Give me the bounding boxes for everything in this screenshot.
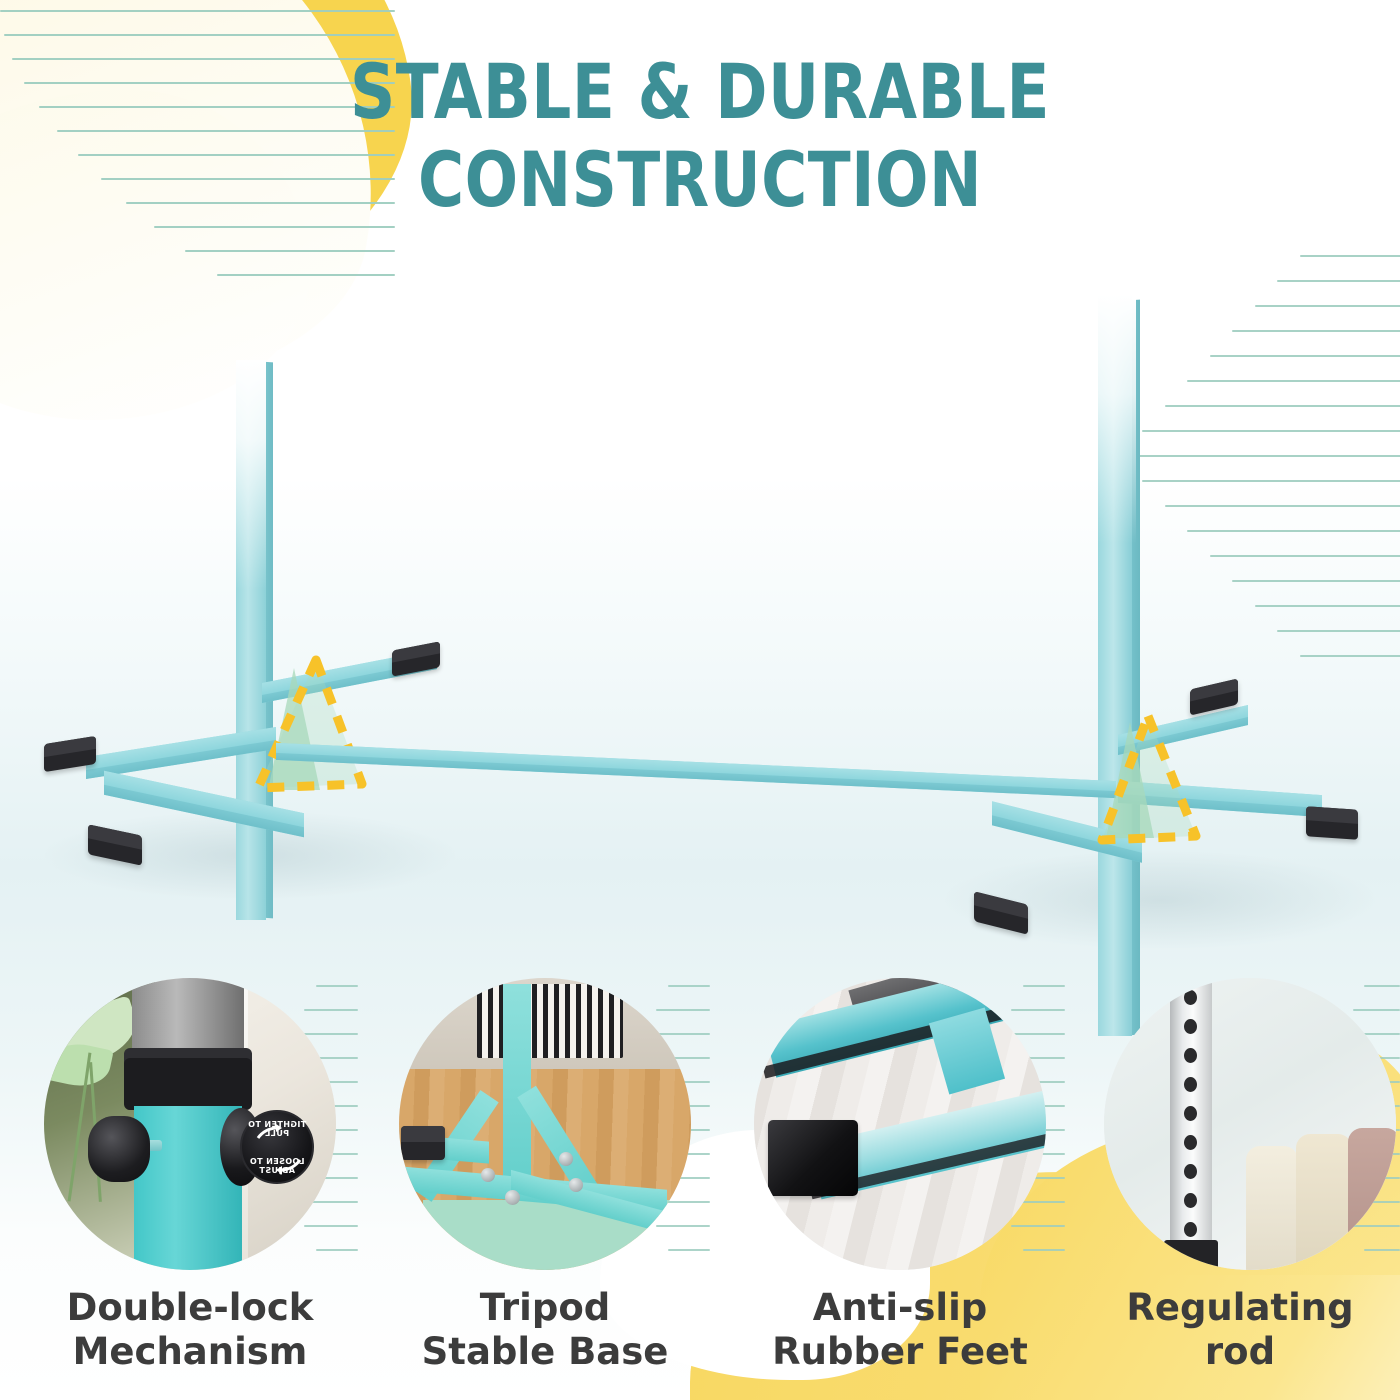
lock-collar xyxy=(124,1058,252,1110)
tripod-bolt xyxy=(505,1190,520,1205)
rod-adjustment-hole xyxy=(1184,1019,1197,1034)
caption-tripod-base: Tripod Stable Base xyxy=(380,1286,710,1373)
left-post-fade xyxy=(236,360,266,590)
caption-1-line-1: Double-lock xyxy=(25,1286,355,1330)
caption-rubber-feet: Anti-slip Rubber Feet xyxy=(735,1286,1065,1373)
cushion xyxy=(1246,1146,1298,1270)
caption-2-line-2: Stable Base xyxy=(380,1330,710,1374)
post-upper-silver xyxy=(132,978,244,1056)
right-highlight-triangle xyxy=(1090,708,1212,854)
tripod-bolt xyxy=(559,1152,573,1166)
rod-base-cap xyxy=(1164,1240,1218,1270)
inset-rubber-feet[interactable] xyxy=(754,978,1046,1270)
cushion xyxy=(1296,1134,1352,1270)
rod-adjustment-hole xyxy=(1184,1048,1197,1063)
headline-line-1: STABLE & DURABLE xyxy=(56,54,1344,130)
caption-3-line-2: Rubber Feet xyxy=(735,1330,1065,1374)
left-highlight-triangle xyxy=(248,652,378,802)
tripod-bolt xyxy=(569,1178,583,1192)
headline: STABLE & DURABLE CONSTRUCTION xyxy=(0,54,1400,218)
striped-ottoman xyxy=(477,984,623,1058)
caption-3-line-1: Anti-slip xyxy=(735,1286,1065,1330)
tripod-vertical-post xyxy=(503,984,531,1192)
infographic-canvas: STABLE & DURABLE CONSTRUCTION xyxy=(0,0,1400,1400)
anti-slip-rubber-cap xyxy=(768,1120,858,1196)
lock-knob-dial[interactable]: TIGHTEN TO PULL LOOSEN TO ADJUST xyxy=(240,1110,314,1184)
dial-arrow-icon xyxy=(242,1112,316,1186)
inset-regulating-rod[interactable] xyxy=(1104,978,1396,1270)
inset-double-lock[interactable]: TIGHTEN TO PULL LOOSEN TO ADJUST xyxy=(44,978,336,1270)
feature-insets: TIGHTEN TO PULL LOOSEN TO ADJUST xyxy=(0,965,1400,1285)
center-rail xyxy=(276,743,1116,798)
left-foot-back xyxy=(392,641,440,676)
rod-adjustment-hole xyxy=(1184,1222,1197,1237)
inset-tripod-base[interactable] xyxy=(399,978,691,1270)
cushion xyxy=(1348,1128,1396,1270)
tripod-bolt xyxy=(481,1168,495,1182)
rod-adjustment-hole xyxy=(1184,1106,1197,1121)
caption-4-line-2: rod xyxy=(1075,1330,1400,1374)
tripod-rubber-foot xyxy=(401,1126,445,1160)
headline-line-2: CONSTRUCTION xyxy=(56,142,1344,218)
rod-adjustment-hole xyxy=(1184,1164,1197,1179)
caption-4-line-1: Regulating xyxy=(1075,1286,1400,1330)
right-foot-right xyxy=(1306,806,1358,840)
lock-knob-left-icon[interactable] xyxy=(88,1116,150,1182)
rod-adjustment-hole xyxy=(1184,990,1197,1005)
rod-adjustment-hole xyxy=(1184,1077,1197,1092)
rod-adjustment-hole xyxy=(1184,1135,1197,1150)
rod-adjustment-hole xyxy=(1184,1193,1197,1208)
right-post-fade xyxy=(1096,294,1136,544)
caption-regulating-rod: Regulating rod xyxy=(1075,1286,1400,1373)
caption-double-lock: Double-lock Mechanism xyxy=(25,1286,355,1373)
product-illustration xyxy=(0,250,1400,970)
caption-2-line-1: Tripod xyxy=(380,1286,710,1330)
caption-1-line-2: Mechanism xyxy=(25,1330,355,1374)
